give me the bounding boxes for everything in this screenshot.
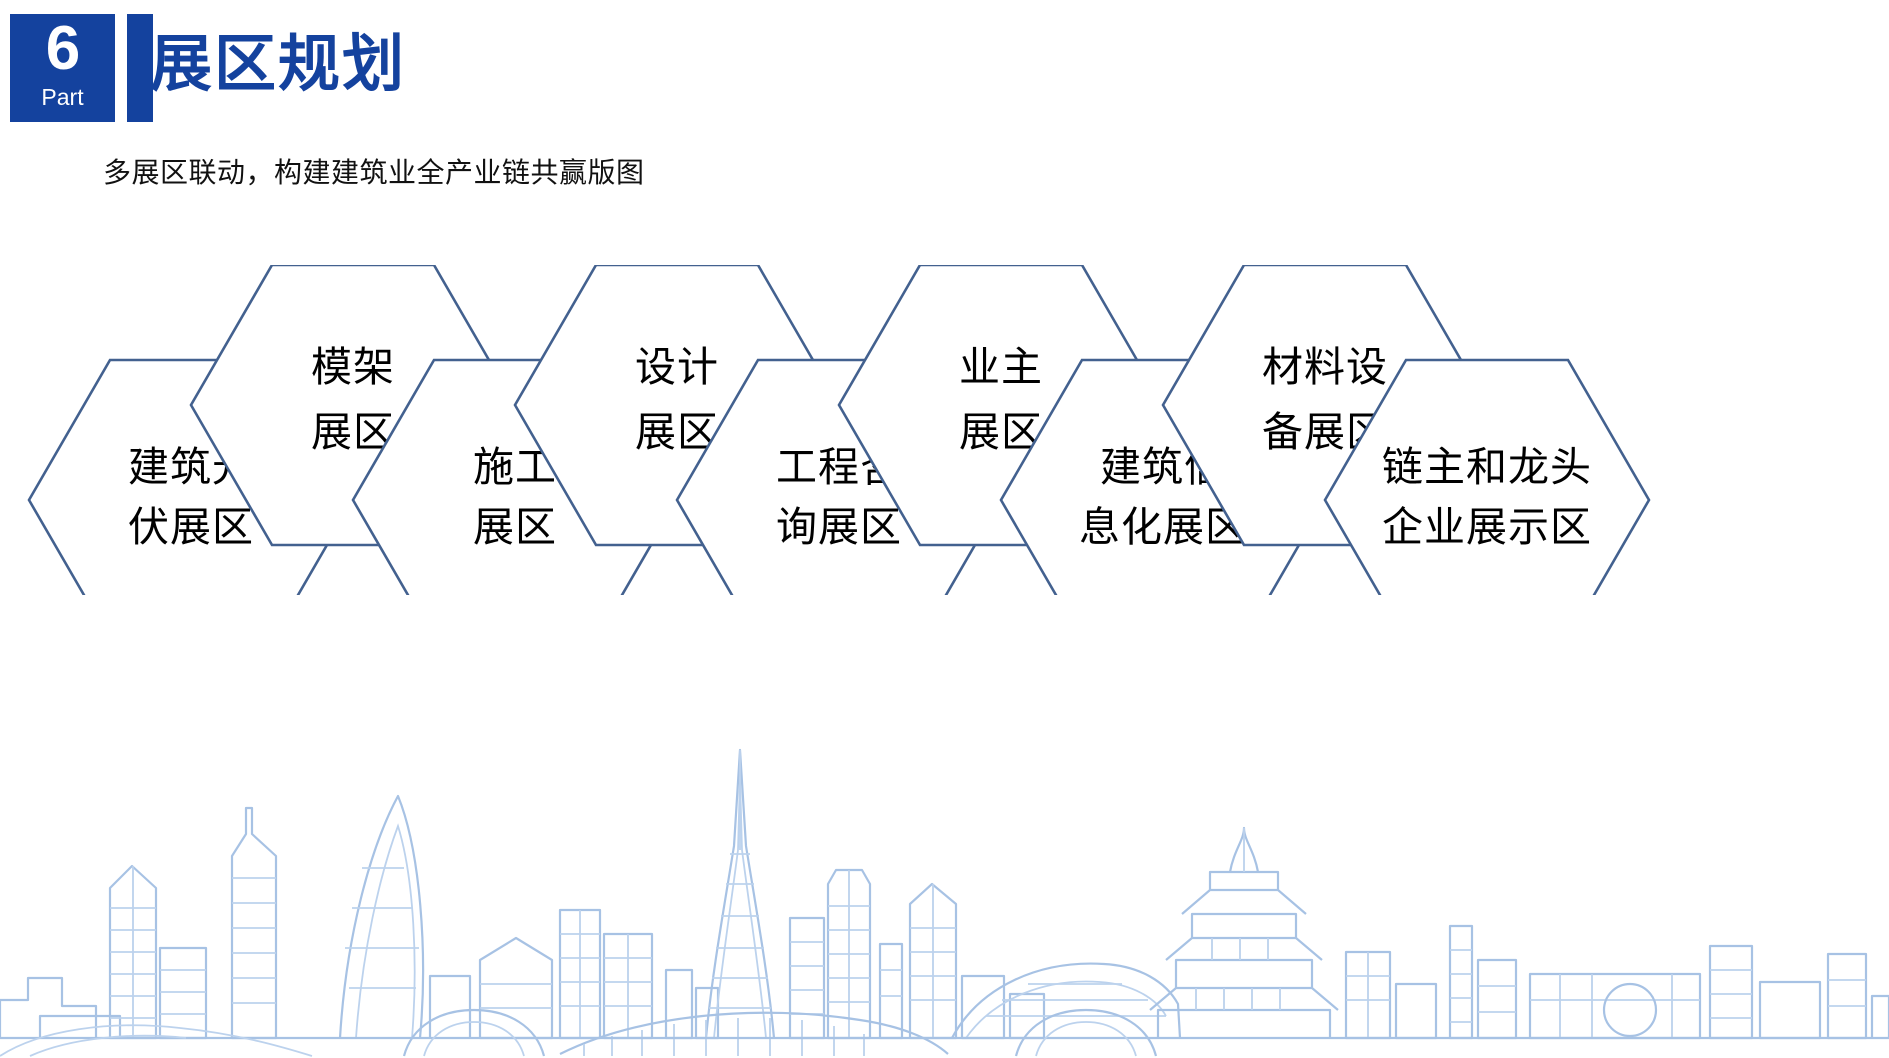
hexagon-leader-line2: 企业展示区 (1382, 504, 1592, 550)
hexagon-consult-line2: 询展区 (776, 504, 902, 550)
hexagon-construct-line2: 展区 (473, 504, 557, 550)
slide-header: 6 Part 展区规划 (0, 0, 1889, 150)
hexagon-material-line1: 材料设 (1262, 344, 1388, 390)
hexagon-leader-line1: 链主和龙头 (1382, 444, 1592, 490)
page-subtitle: 多展区联动，构建建筑业全产业链共赢版图 (103, 151, 645, 191)
part-label: Part (10, 86, 115, 109)
hexagon-pv-line2: 伏展区 (128, 504, 254, 550)
city-skyline-illustration (0, 738, 1889, 1058)
hexagon-owner-line1: 业主 (959, 344, 1043, 390)
skyline-svg (0, 738, 1889, 1058)
hexagon-formwork-line1: 模架 (311, 344, 395, 390)
exhibition-zone-diagram: 建筑光 伏展区 模架 展区 施工 展区 设计 展区 工程咨 询展区 (0, 265, 1889, 595)
part-badge: 6 Part (10, 14, 115, 122)
hexagon-chain-svg: 建筑光 伏展区 模架 展区 施工 展区 设计 展区 工程咨 询展区 (0, 265, 1889, 595)
hexagon-design-line1: 设计 (635, 344, 719, 390)
part-number: 6 (10, 18, 115, 80)
page-title: 展区规划 (150, 30, 406, 100)
hexagon-bim-line2: 息化展区 (1079, 504, 1247, 550)
